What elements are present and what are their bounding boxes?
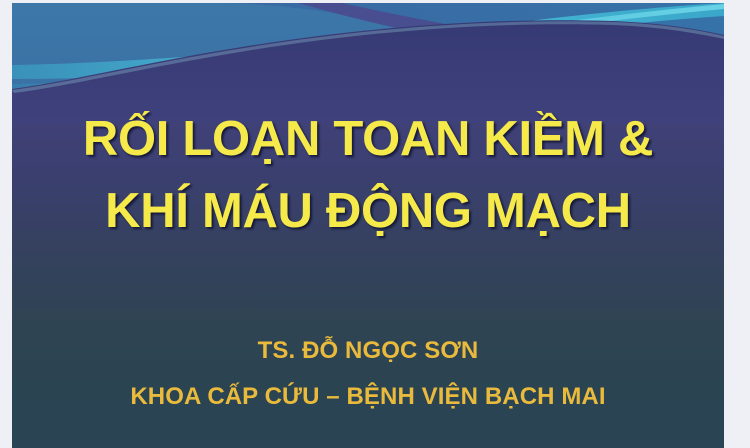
page-canvas: RỐI LOẠN TOAN KIỀM & KHÍ MÁU ĐỘNG MẠCH T… [0,0,750,448]
slide-title: RỐI LOẠN TOAN KIỀM & KHÍ MÁU ĐỘNG MẠCH [12,103,724,247]
subtitle-affiliation: KHOA CẤP CỨU – BỆNH VIỆN BẠCH MAI [12,374,724,420]
title-line-2: KHÍ MÁU ĐỘNG MẠCH [12,175,724,247]
title-line-1: RỐI LOẠN TOAN KIỀM & [12,103,724,175]
subtitle-presenter: TS. ĐỖ NGỌC SƠN [12,328,724,374]
slide: RỐI LOẠN TOAN KIỀM & KHÍ MÁU ĐỘNG MẠCH T… [12,3,724,448]
slide-subtitle: TS. ĐỖ NGỌC SƠN KHOA CẤP CỨU – BỆNH VIỆN… [12,328,724,420]
